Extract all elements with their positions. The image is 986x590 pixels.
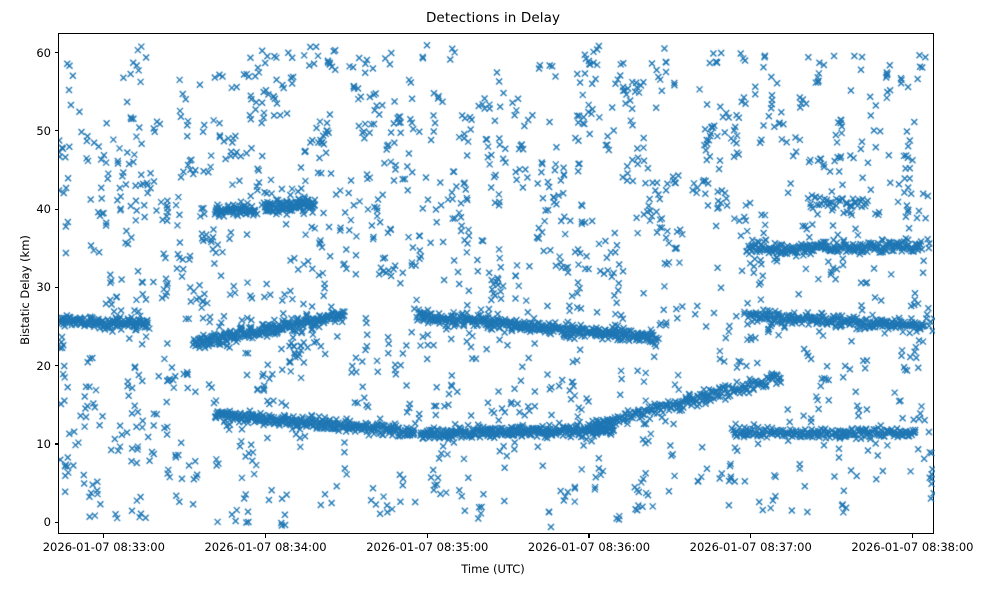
x-tick-mark	[103, 534, 104, 538]
plot-axes	[58, 33, 934, 534]
y-tick-label: 0	[11, 515, 51, 529]
x-axis-label: Time (UTC)	[0, 562, 986, 576]
scatter-plot-canvas	[59, 34, 935, 535]
x-tick-mark	[912, 534, 913, 538]
y-tick-mark	[55, 522, 59, 523]
x-tick-label: 2026-01-07 08:33:00	[43, 540, 165, 554]
x-tick-mark	[427, 534, 428, 538]
x-tick-label: 2026-01-07 08:37:00	[690, 540, 812, 554]
chart-figure: Detections in Delay 0102030405060 2026-0…	[0, 0, 986, 590]
y-tick-mark	[55, 365, 59, 366]
y-tick-mark	[55, 52, 59, 53]
x-tick-mark	[750, 534, 751, 538]
x-tick-mark	[588, 534, 589, 538]
y-tick-mark	[55, 443, 59, 444]
y-tick-label: 50	[11, 124, 51, 138]
x-tick-label: 2026-01-07 08:35:00	[366, 540, 488, 554]
chart-title: Detections in Delay	[0, 10, 986, 26]
y-tick-mark	[55, 287, 59, 288]
y-tick-mark	[55, 130, 59, 131]
x-tick-label: 2026-01-07 08:36:00	[528, 540, 650, 554]
y-tick-label: 60	[11, 46, 51, 60]
x-tick-label: 2026-01-07 08:38:00	[851, 540, 973, 554]
y-axis-label: Bistatic Delay (km)	[18, 140, 32, 440]
x-tick-mark	[265, 534, 266, 538]
y-tick-mark	[55, 209, 59, 210]
x-tick-label: 2026-01-07 08:34:00	[204, 540, 326, 554]
